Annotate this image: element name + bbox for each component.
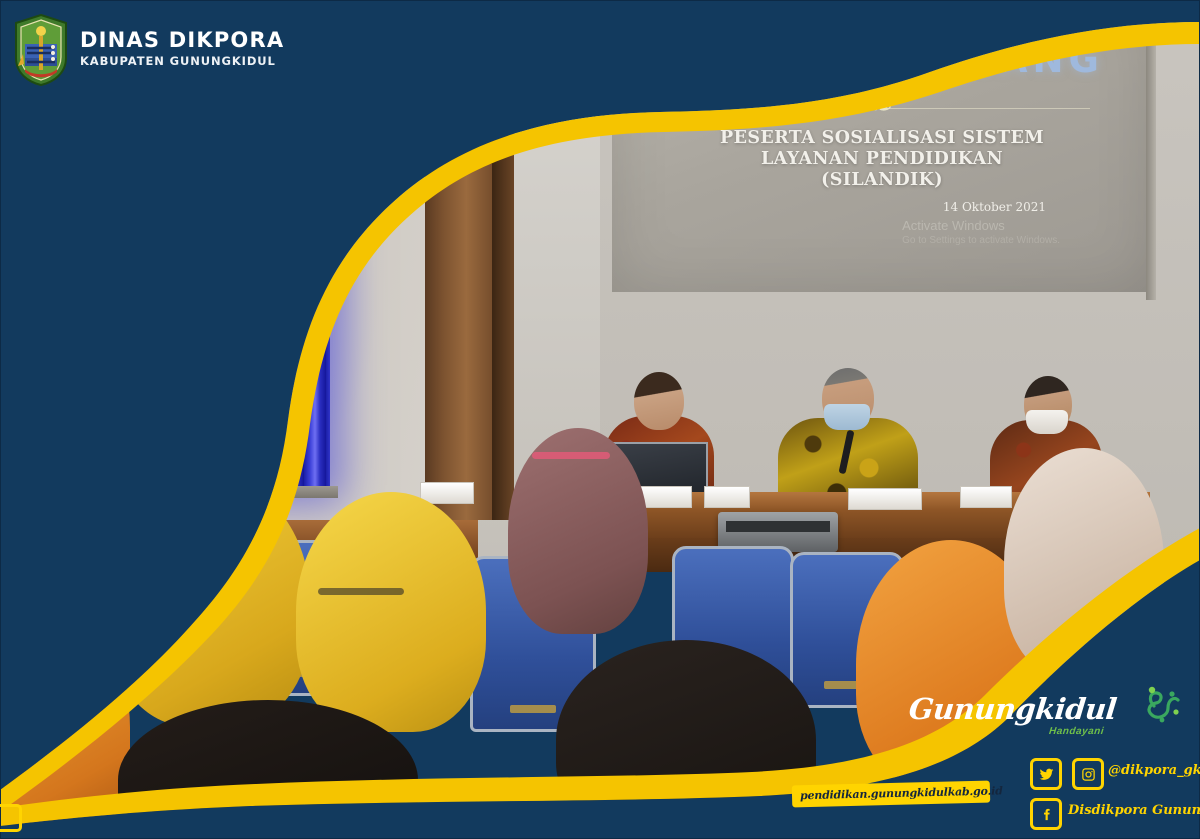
screen-date: 14 Oktober 2021	[943, 200, 1046, 214]
curtain-rod	[50, 105, 350, 127]
speaker-left-head	[634, 372, 684, 430]
facebook-page-name: Disdikpora Gunungkidul	[1068, 803, 1200, 818]
instagram-icon[interactable]	[1072, 758, 1104, 790]
screen-ornament: ❧	[612, 92, 1152, 122]
audience-member-pink	[8, 416, 128, 566]
gunungkidul-brand-wordmark: Gunungkidul	[907, 692, 1118, 726]
screen-subtitle-line3: (SILANDIK)	[612, 170, 1152, 191]
windows-activation-watermark: Activate Windows Go to Settings to activ…	[902, 218, 1060, 248]
gunungkidul-flourish-icon	[1138, 684, 1182, 724]
gunungkidul-brand-tagline: Handayani	[1048, 726, 1104, 737]
watermark-line2: Go to Settings to activate Windows.	[902, 233, 1060, 248]
curtain-rod-knob	[336, 102, 352, 128]
speaker-center-face-mask	[824, 404, 870, 430]
watermark-line1: Activate Windows	[902, 218, 1005, 233]
name-card	[848, 488, 922, 510]
page-title: DINAS DIKPORA	[80, 28, 284, 52]
podium-carving	[0, 336, 175, 372]
screen-subtitle-line1: PESERTA SOSIALISASI SISTEM	[612, 128, 1152, 149]
screen-subtitle: PESERTA SOSIALISASI SISTEM LAYANAN PENDI…	[612, 128, 1152, 191]
page-subtitle: KABUPATEN GUNUNGKIDUL	[80, 54, 276, 68]
audience-mask-strap	[318, 588, 404, 595]
audience-member-beige	[1004, 448, 1164, 678]
edge-decoration	[0, 804, 22, 832]
audience-headband	[532, 452, 610, 459]
podium-plate	[58, 390, 94, 399]
screen-subtitle-line2: LAYANAN PENDIDIKAN	[612, 149, 1152, 170]
wooden-pillar-edge	[492, 0, 514, 520]
audience-member-dark	[556, 640, 816, 839]
instagram-handle: @dikpora_gk	[1108, 763, 1200, 778]
wooden-pillar	[425, 0, 500, 520]
audience-member-yellow	[110, 476, 310, 726]
speaker-right-face-mask	[1026, 410, 1068, 434]
projection-screen: SELAMAT DATANG ❧ PESERTA SOSIALISASI SIS…	[612, 0, 1152, 292]
name-card	[960, 486, 1012, 508]
audience-member-yellow	[296, 492, 486, 732]
name-card	[704, 486, 750, 508]
event-banner: SELAMAT DATANG ❧ PESERTA SOSIALISASI SIS…	[0, 0, 1200, 839]
screen-welcome-text: SELAMAT DATANG	[612, 38, 1152, 81]
facebook-icon[interactable]	[1030, 798, 1062, 830]
gunungkidul-regency-emblem	[12, 14, 70, 86]
twitter-icon[interactable]	[1030, 758, 1062, 790]
screen-frame-edge	[1146, 0, 1156, 300]
curtain-rod-knob	[44, 102, 60, 128]
